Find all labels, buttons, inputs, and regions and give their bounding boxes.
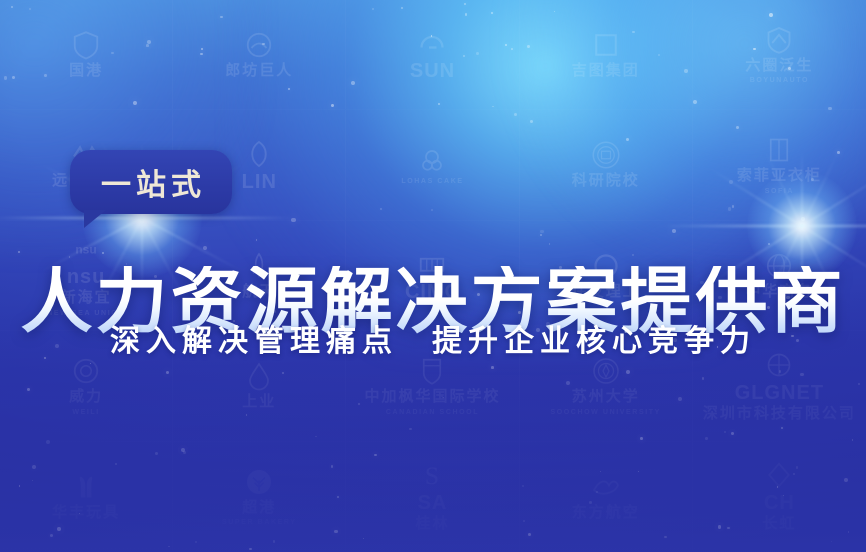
banner-subtitle-part2: 提升企业核心竞争力 (432, 325, 756, 358)
tagline-badge-wrapper: 一站式 (70, 150, 232, 214)
tagline-badge: 一站式 (70, 150, 232, 214)
tagline-badge-label: 一站式 (96, 160, 206, 204)
banner-content: 一站式 人力资源解决方案提供商 深入解决管理痛点提升企业核心竞争力 (0, 0, 866, 552)
promo-banner: 国港郎坊巨人SUN吉图集团六圈泛生BOYUNAUTO远峰科技LINLOHAS C… (0, 0, 866, 552)
banner-subtitle-part1: 深入解决管理痛点 (110, 325, 398, 358)
speech-bubble-tail-icon (84, 210, 106, 228)
banner-subtitle: 深入解决管理痛点提升企业核心竞争力 (0, 316, 866, 360)
